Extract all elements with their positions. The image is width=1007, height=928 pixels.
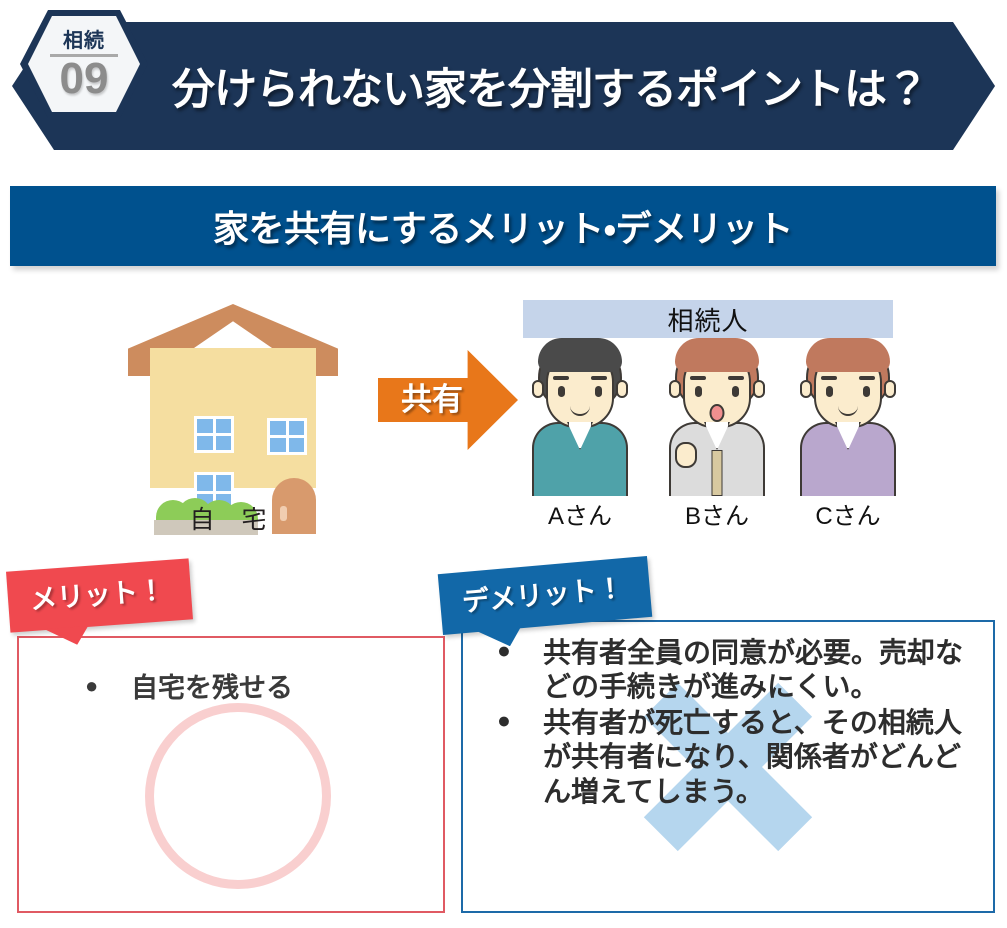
house-label: 自 宅 — [128, 500, 338, 536]
person-a-brow-left — [553, 376, 569, 380]
person-b-hand — [675, 442, 697, 468]
demerit-list-item: 共有者が死亡すると、その相続人が共有者になり、関係者がどんどん増えてしまう。 — [489, 706, 981, 808]
person-a-brow-right — [591, 376, 607, 380]
person-c-fringe — [806, 338, 890, 372]
demerit-box: 共有者全員の同意が必要。売却などの手続きが進みにくい。 共有者が死亡すると、その… — [461, 620, 995, 913]
person-b-ear-left — [669, 380, 681, 398]
person-c — [788, 336, 908, 496]
person-b-name: Bさん — [657, 496, 777, 531]
person-b — [657, 336, 777, 496]
house-body — [150, 348, 316, 488]
person-b-eye-right — [732, 386, 739, 397]
person-c-brow-right — [859, 376, 875, 380]
subtitle-text: 家を共有にするメリット・デメリット — [213, 200, 793, 252]
person-b-tie — [712, 450, 723, 496]
house-icon — [128, 304, 338, 494]
person-b-brow-left — [690, 376, 706, 380]
heirs-header-label: 相続人 — [667, 301, 748, 338]
person-c-name: Cさん — [788, 496, 908, 531]
illustration-area: 自 宅 共有 相続人 — [0, 288, 1007, 550]
header-banner: 分けられない家を分割するポイントは？ — [12, 22, 995, 150]
person-c-eye-right — [863, 386, 870, 397]
person-b-eye-left — [695, 386, 702, 397]
person-a — [520, 336, 640, 496]
badge-category-label: 相続 — [20, 24, 148, 53]
person-b-mouth — [710, 404, 725, 422]
demerit-list-item: 共有者全員の同意が必要。売却などの手続きが進みにくい。 — [489, 636, 981, 704]
demerit-list: 共有者全員の同意が必要。売却などの手続きが進みにくい。 共有者が死亡すると、その… — [489, 636, 981, 811]
heirs-header: 相続人 — [523, 300, 893, 338]
merit-list: 自宅を残せる — [79, 672, 429, 706]
person-a-ear-left — [532, 380, 544, 398]
person-a-ear-right — [616, 380, 628, 398]
person-c-eye-left — [826, 386, 833, 397]
house-window-upper-right — [267, 418, 307, 455]
person-b-fringe — [675, 338, 759, 372]
merit-tag: メリット！ — [6, 558, 193, 632]
merit-list-item: 自宅を残せる — [79, 672, 429, 706]
person-c-ear-left — [800, 380, 812, 398]
merit-box: 自宅を残せる — [17, 636, 445, 913]
subtitle-bar: 家を共有にするメリット・デメリット — [10, 186, 996, 266]
merit-circle-watermark — [145, 703, 331, 889]
person-a-eye-right — [595, 386, 602, 397]
person-b-ear-right — [753, 380, 765, 398]
house-window-upper-left — [194, 416, 234, 453]
badge-number: 09 — [20, 57, 148, 101]
page-title: 分けられない家を分割するポイントは？ — [172, 55, 928, 117]
person-c-brow-left — [821, 376, 837, 380]
chapter-badge: 相続 09 — [20, 10, 148, 118]
person-a-name: Aさん — [520, 496, 640, 531]
person-a-eye-left — [558, 386, 565, 397]
share-arrow-label: 共有 — [378, 374, 486, 419]
person-b-brow-right — [728, 376, 744, 380]
person-a-fringe — [538, 338, 622, 372]
person-c-ear-right — [884, 380, 896, 398]
